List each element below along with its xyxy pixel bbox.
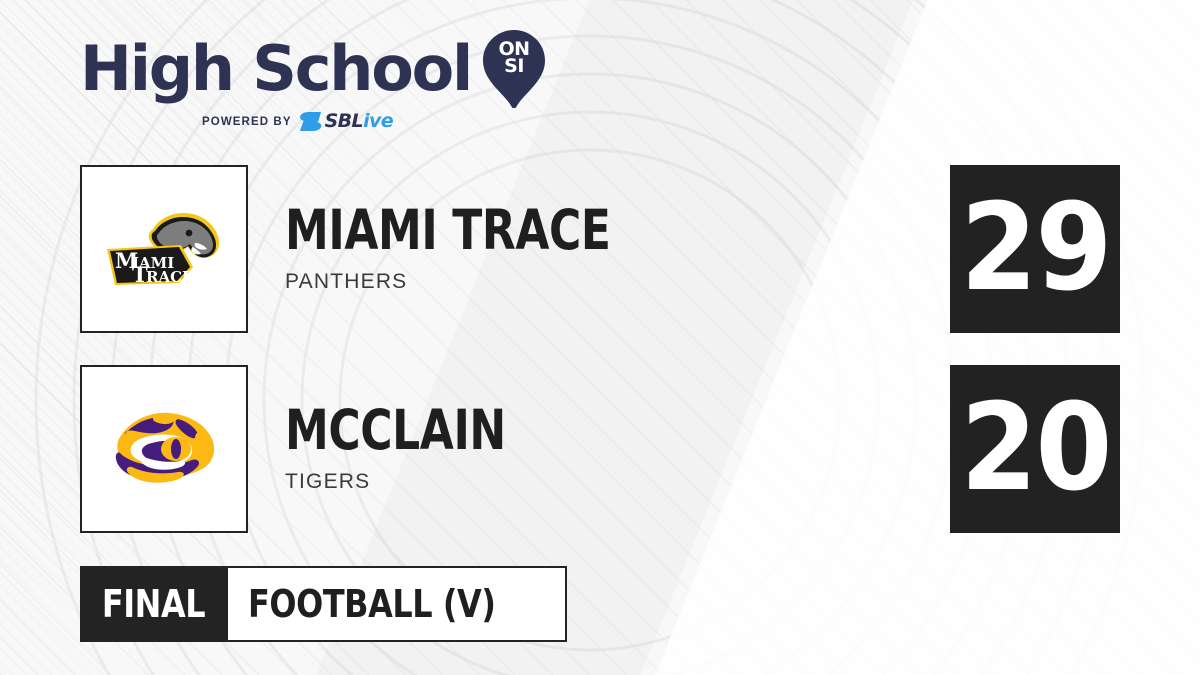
team-mascot-away: TIGERS bbox=[285, 470, 561, 494]
team-name-away: MCCLAIN bbox=[285, 404, 506, 456]
scoreboard-graphic: High School ON SI POWERED BY SBLive bbox=[0, 0, 1200, 675]
team-logo-box-mcclain bbox=[80, 365, 248, 533]
team-logo-box-miami-trace: M IAMI T RACE bbox=[80, 165, 248, 333]
sblive-logo: SBLive bbox=[300, 112, 393, 131]
score-box-home: 29 bbox=[950, 165, 1120, 333]
status-badge-label: FINAL bbox=[102, 582, 205, 626]
status-sport-label: FOOTBALL (V) bbox=[248, 582, 496, 626]
score-value-away: 20 bbox=[960, 389, 1110, 509]
team-mascot-home: PANTHERS bbox=[285, 270, 692, 294]
svg-text:RACE: RACE bbox=[146, 268, 193, 286]
on-si-pin-icon: ON SI bbox=[483, 30, 545, 108]
brand-wordmark: High School bbox=[80, 38, 471, 100]
powered-by-label: POWERED BY bbox=[202, 116, 292, 128]
team-row-home: M IAMI T RACE MIAMI TRACE PANTHERS bbox=[80, 165, 692, 333]
sblive-word-light: ive bbox=[363, 110, 393, 132]
panther-head-logo-icon: M IAMI T RACE bbox=[105, 209, 223, 289]
status-sport-box: FOOTBALL (V) bbox=[228, 566, 567, 642]
pin-label-si: SI bbox=[483, 58, 545, 75]
tiger-eye-logo-icon bbox=[104, 405, 224, 493]
sblive-wordmark: SBLive bbox=[325, 112, 393, 131]
powered-by-lockup: POWERED BY SBLive bbox=[202, 112, 545, 131]
score-box-away: 20 bbox=[950, 365, 1120, 533]
team-name-home: MIAMI TRACE bbox=[285, 204, 611, 256]
status-badge-final: FINAL bbox=[80, 566, 228, 642]
game-status-bar: FINAL FOOTBALL (V) bbox=[80, 566, 567, 642]
score-value-home: 29 bbox=[960, 189, 1110, 309]
sblive-word-dark: SBL bbox=[325, 110, 363, 132]
brand-header: High School ON SI POWERED BY SBLive bbox=[80, 30, 545, 131]
team-row-away: MCCLAIN TIGERS bbox=[80, 365, 561, 533]
sblive-mark-icon bbox=[300, 112, 322, 131]
